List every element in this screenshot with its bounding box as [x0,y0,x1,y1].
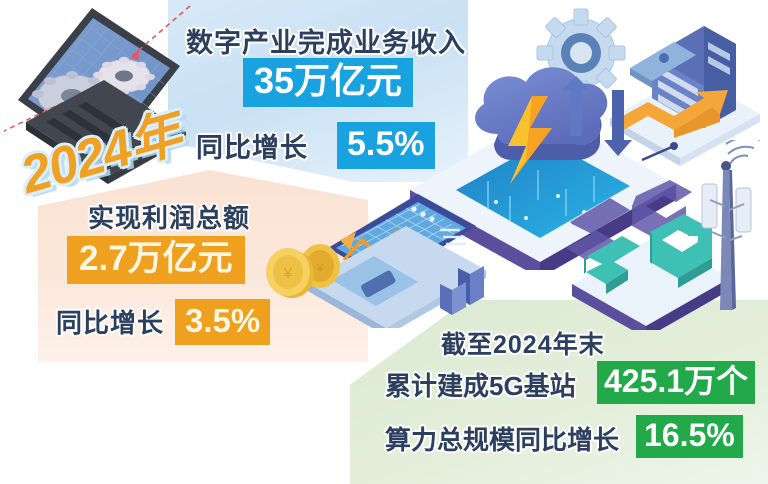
5g-stations-label: 累计建成5G基站 [385,366,576,403]
digital-industry-value: 35万亿元 [243,58,413,107]
end-of-year-title: 截至2024年末 [441,325,605,361]
digital-industry-yoy-value: 5.5% [337,122,435,169]
infographic-canvas: 2024年 [0,0,768,484]
compute-power-value: 16.5% [636,415,743,458]
digital-industry-title: 数字产业完成业务收入 [186,21,466,60]
cell-tower-icon [698,140,768,320]
profit-value: 2.7万亿元 [67,236,245,284]
profit-yoy-label: 同比增长 [56,303,164,340]
5g-stations-value: 425.1万个 [597,361,755,404]
compute-power-label: 算力总规模同比增长 [385,420,619,457]
digital-industry-yoy-label: 同比增长 [196,126,308,165]
profit-yoy-value: 3.5% [175,299,270,345]
svg-text:¥: ¥ [283,265,293,282]
svg-text:¥: ¥ [316,261,324,275]
coin-stack-icon: ¥ ¥ [258,238,350,308]
profit-title: 实现利润总额 [88,198,250,235]
